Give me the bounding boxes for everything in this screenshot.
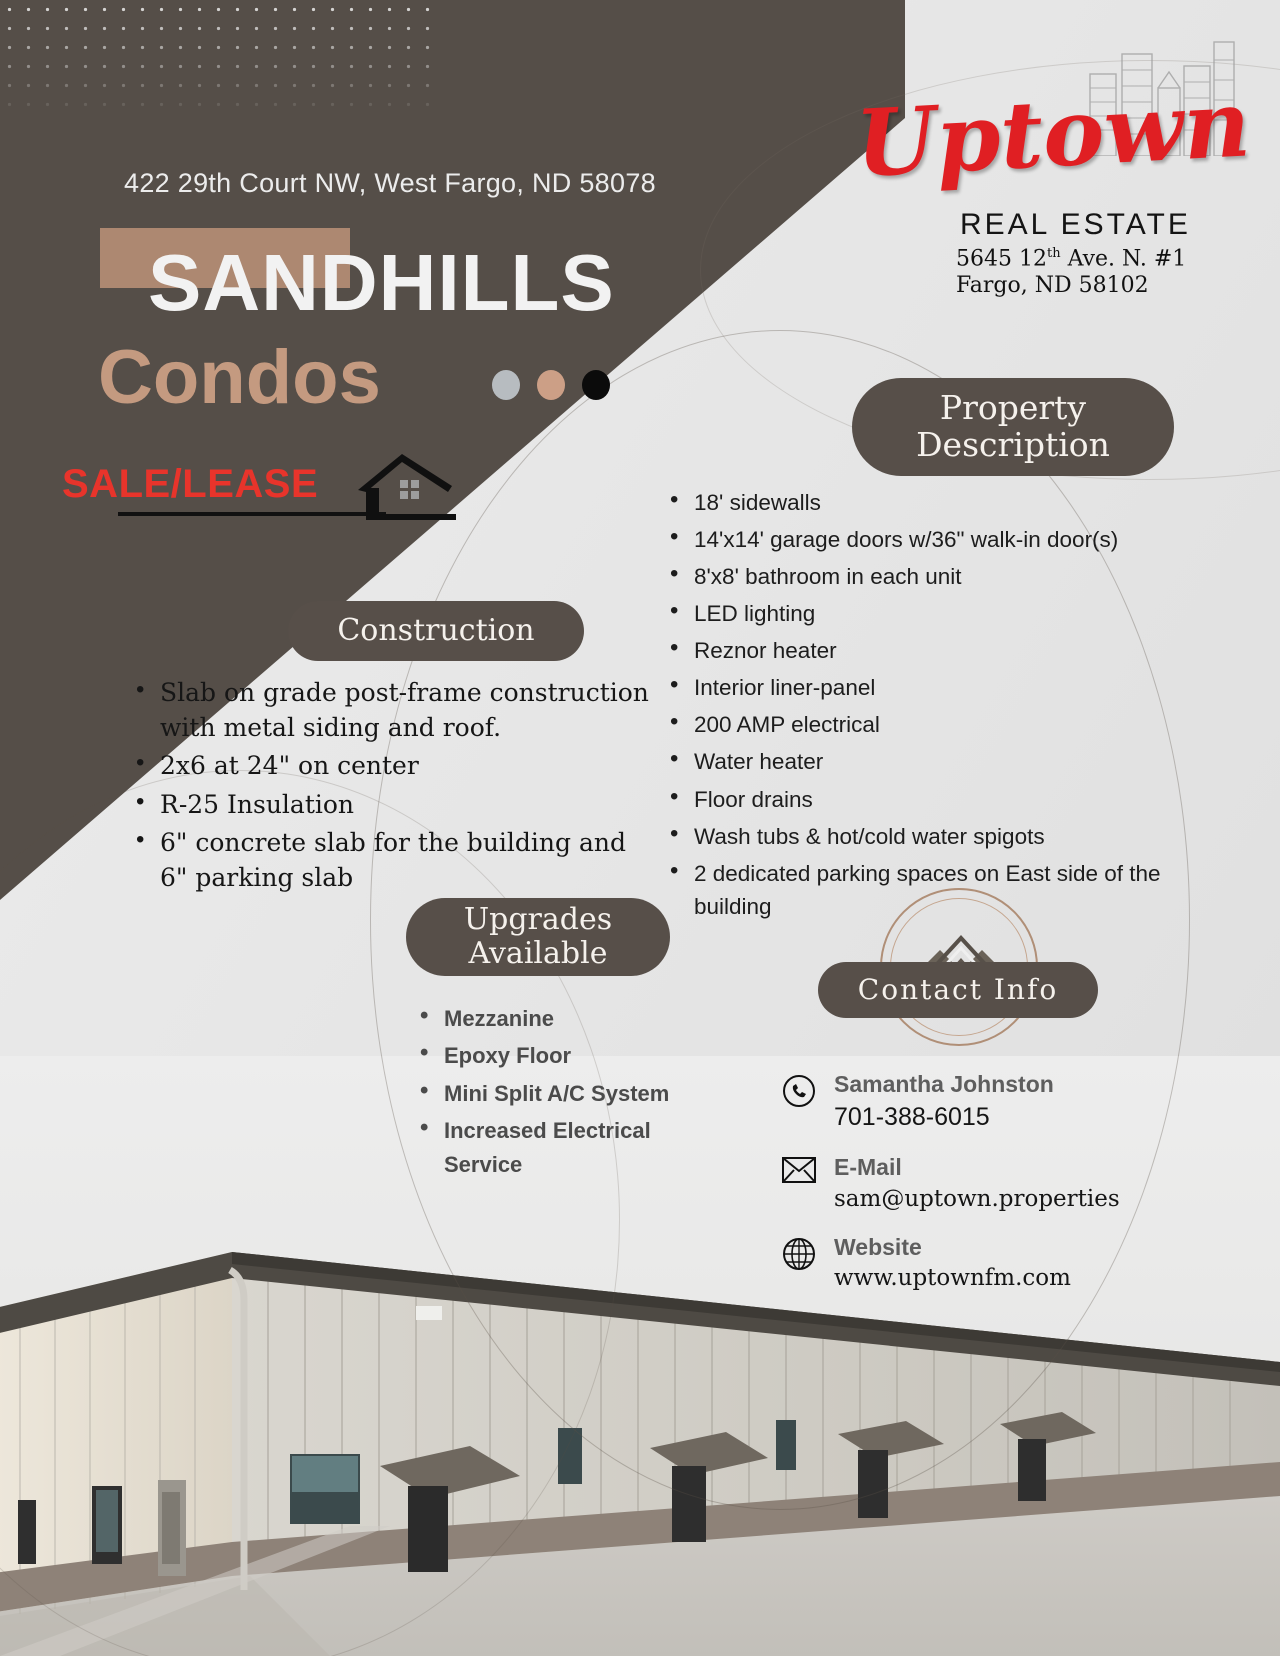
property-address: 422 29th Court NW, West Fargo, ND 58078 [124,168,656,199]
list-item: Mezzanine [414,1002,724,1035]
contact-row: Samantha Johnston701-388-6015 [782,1070,1202,1135]
contact-row: E-Mailsam@uptown.properties [782,1153,1202,1215]
upgrades-heading-line1: Upgrades [464,902,612,937]
property-description-list: 18' sidewalls14'x14' garage doors w/36" … [664,486,1194,927]
contact-label: Website [834,1233,1202,1263]
accent-dots [492,370,610,400]
contact-value[interactable]: www.uptownfm.com [834,1263,1202,1294]
contact-label: E-Mail [834,1153,1202,1183]
company-logo: Uptown REAL ESTATE 5645 12th Ave. N. #1 … [852,30,1252,270]
page-title: SANDHILLS [148,243,615,323]
list-item: 200 AMP electrical [664,708,1194,741]
list-item: 6" concrete slab for the building and 6"… [130,826,660,895]
house-icon [352,448,458,520]
list-item: 18' sidewalls [664,486,1194,519]
list-item: Increased Electrical Service [414,1114,724,1181]
logo-brand-text: Uptown [854,81,1188,190]
list-item: 2x6 at 24" on center [130,749,660,784]
construction-heading: Construction [288,601,584,661]
contact-value[interactable]: 701-388-6015 [834,1101,1202,1135]
property-description-heading: Property Description [852,378,1174,476]
list-item: Floor drains [664,783,1194,816]
dot-pattern [0,0,440,120]
logo-address-line1-pre: 5645 12 [956,246,1047,271]
construction-list: Slab on grade post-frame construction wi… [130,676,660,899]
property-heading-line2: Description [916,425,1110,464]
logo-address: 5645 12th Ave. N. #1 Fargo, ND 58102 [956,246,1186,299]
contact-text: Samantha Johnston701-388-6015 [834,1070,1202,1135]
contact-text: Websitewww.uptownfm.com [834,1233,1202,1295]
list-item: Interior liner-panel [664,671,1194,704]
logo-address-ordinal: th [1047,246,1061,261]
contact-row: Websitewww.uptownfm.com [782,1233,1202,1295]
accent-dot-gray [492,370,520,400]
list-item: Water heater [664,745,1194,778]
envelope-icon [782,1153,834,1188]
list-item: Wash tubs & hot/cold water spigots [664,820,1194,853]
logo-address-line1-post: Ave. N. #1 [1061,246,1187,271]
flyer-page: 422 29th Court NW, West Fargo, ND 58078 … [0,0,1280,1656]
list-item: 8'x8' bathroom in each unit [664,560,1194,593]
upgrades-list: MezzanineEpoxy FloorMini Split A/C Syste… [414,1002,724,1185]
contact-info-heading: Contact Info [818,962,1098,1018]
list-item: LED lighting [664,597,1194,630]
list-item: Slab on grade post-frame construction wi… [130,676,660,745]
list-item: Epoxy Floor [414,1039,724,1072]
list-item: 14'x14' garage doors w/36" walk-in door(… [664,523,1194,556]
logo-address-line2: Fargo, ND 58102 [956,273,1149,298]
list-item: Reznor heater [664,634,1194,667]
list-item: R-25 Insulation [130,788,660,823]
page-subtitle: Condos [98,340,381,416]
globe-icon [782,1233,834,1276]
contact-text: E-Mailsam@uptown.properties [834,1153,1202,1215]
upgrades-heading-line2: Available [469,936,608,971]
logo-tagline: REAL ESTATE [960,208,1191,242]
contact-label: Samantha Johnston [834,1070,1202,1100]
phone-icon [782,1070,834,1113]
accent-dot-tan [537,370,565,400]
contact-value[interactable]: sam@uptown.properties [834,1184,1202,1215]
accent-dot-black [582,370,610,400]
sale-lease-label: SALE/LEASE [62,462,318,507]
property-heading-line1: Property [940,388,1086,427]
contact-info-list: Samantha Johnston701-388-6015E-Mailsam@u… [782,1070,1202,1313]
list-item: Mini Split A/C System [414,1077,724,1110]
upgrades-heading: Upgrades Available [406,898,670,976]
sale-lease-underline [118,512,386,516]
